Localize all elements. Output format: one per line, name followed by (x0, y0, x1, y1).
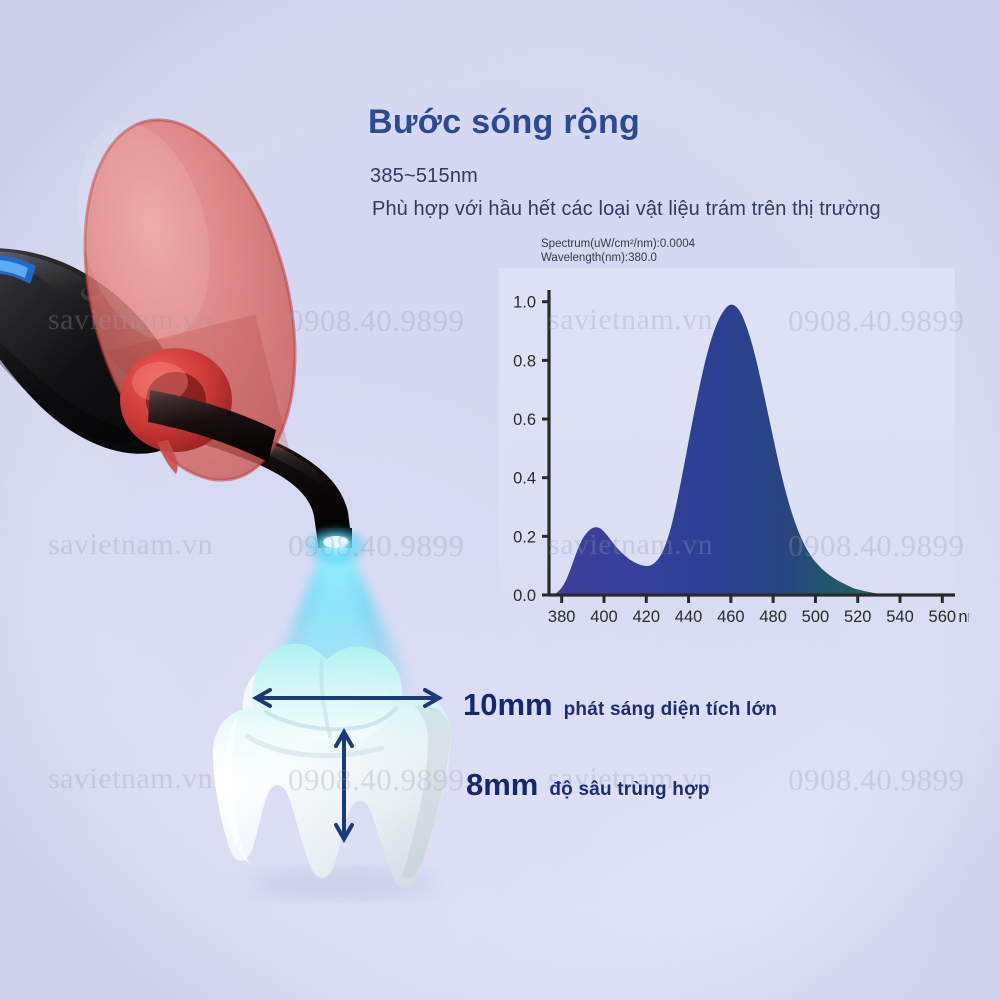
callout-depth: 8mm độ sâu trùng hợp (466, 767, 710, 803)
x-tick-label: 460 (717, 608, 745, 626)
callout-width-value: 10mm (463, 687, 553, 723)
spectrum-chart: 0.00.20.40.60.81.0 380400420440460480500… (499, 262, 969, 627)
y-tick-label: 0.6 (513, 411, 536, 429)
x-tick-label: 520 (844, 608, 872, 626)
y-tick-label: 0.2 (513, 528, 536, 546)
x-tick-label: 540 (886, 608, 914, 626)
x-tick-label: 560 (929, 608, 957, 626)
y-axis-tick-labels: 0.00.20.40.60.81.0 (513, 294, 536, 605)
x-tick-label: 380 (548, 608, 576, 626)
product-infographic-page: Spectrum(uW/cm²/nm):0.0004 Wavelength(nm… (0, 0, 1000, 1000)
readout-spectrum-line: Spectrum(uW/cm²/nm):0.0004 (541, 238, 695, 250)
x-tick-label: 500 (802, 608, 830, 626)
y-tick-label: 0.0 (513, 587, 536, 605)
callout-depth-label: độ sâu trùng hợp (549, 779, 709, 801)
wavelength-range-text: 385~515nm (370, 165, 478, 188)
compatibility-text: Phù hợp với hầu hết các loại vật liệu tr… (372, 198, 881, 221)
page-title: Bước sóng rộng (368, 103, 640, 142)
y-tick-label: 0.8 (513, 352, 536, 370)
x-tick-label: 440 (675, 608, 703, 626)
x-tick-label: 480 (759, 608, 787, 626)
spectrum-curve-area (553, 305, 955, 595)
x-axis-tick-labels: 380400420440460480500520540560 (548, 608, 956, 626)
x-axis-unit-label: nm (958, 608, 969, 626)
callout-width-label: phát sáng diện tích lớn (564, 699, 777, 721)
spectrum-curve-group (553, 305, 955, 595)
readout-wavelength-line: Wavelength(nm):380.0 (541, 252, 657, 264)
callout-depth-value: 8mm (466, 767, 538, 803)
y-tick-label: 0.4 (513, 470, 536, 488)
x-tick-label: 420 (633, 608, 661, 626)
y-tick-label: 1.0 (513, 294, 536, 312)
chart-readout: Spectrum(uW/cm²/nm):0.0004 Wavelength(nm… (541, 238, 695, 265)
callout-width: 10mm phát sáng diện tích lớn (463, 687, 777, 723)
x-tick-label: 400 (590, 608, 618, 626)
